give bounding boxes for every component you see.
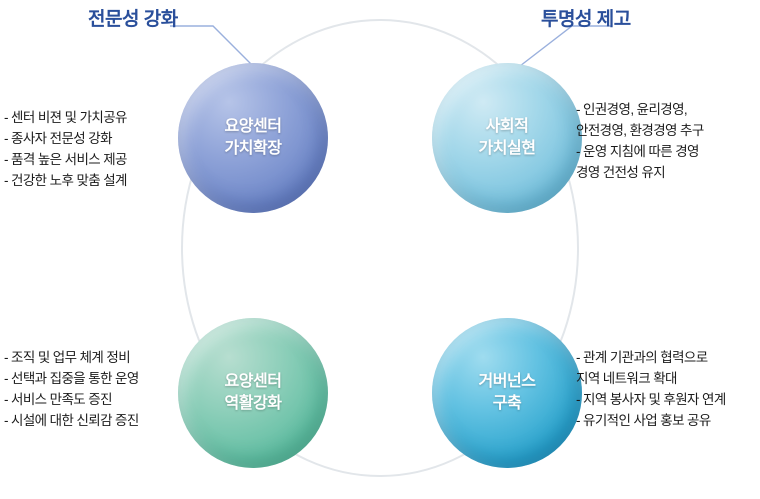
bullet-item-continuation: 안전경영, 환경경영 추구 xyxy=(576,121,704,142)
bullet-item: - 센터 비젼 및 가치공유 xyxy=(4,108,127,129)
node-top-left[interactable]: 요양센터 가치확장 xyxy=(178,63,328,213)
bullets-top-right: - 인권경영, 윤리경영, 안전경영, 환경경영 추구 - 운영 지침에 따른 … xyxy=(576,100,704,184)
bullet-item: - 품격 높은 서비스 제공 xyxy=(4,150,127,171)
node-top-left-label-line1: 요양센터 xyxy=(225,118,282,135)
bullet-item: - 운영 지침에 따른 경영 xyxy=(576,142,704,163)
leader-line-right xyxy=(520,26,612,66)
bullet-item: - 인권경영, 윤리경영, xyxy=(576,100,704,121)
node-bottom-right-label: 거버넌스 구축 xyxy=(479,371,536,414)
bullets-bottom-left: - 조직 및 업무 체계 정비 - 선택과 집중을 통한 운영 - 서비스 만족… xyxy=(4,348,139,432)
node-top-right-label-line2: 가치실현 xyxy=(479,140,536,157)
heading-left: 전문성 강화 xyxy=(88,4,178,31)
node-bottom-left-label-line1: 요양센터 xyxy=(225,373,282,390)
bullet-item: - 건강한 노후 맞춤 설계 xyxy=(4,171,127,192)
node-top-right[interactable]: 사회적 가치실현 xyxy=(432,63,582,213)
leader-line-left xyxy=(170,26,253,66)
bullet-item: - 관계 기관과의 협력으로 xyxy=(576,348,726,369)
bullet-item: - 시설에 대한 신뢰감 증진 xyxy=(4,411,139,432)
node-bottom-left-label-line2: 역활강화 xyxy=(225,395,282,412)
bullet-item-continuation: 경영 건전성 유지 xyxy=(576,163,704,184)
bullet-item-continuation: 지역 네트워크 확대 xyxy=(576,369,726,390)
node-bottom-left-label: 요양센터 역활강화 xyxy=(225,371,282,414)
bullet-item: - 종사자 전문성 강화 xyxy=(4,129,127,150)
node-top-right-label: 사회적 가치실현 xyxy=(479,116,536,159)
bullet-item: - 서비스 만족도 증진 xyxy=(4,390,139,411)
node-bottom-right-label-line2: 구축 xyxy=(493,395,521,412)
node-top-left-label-line2: 가치확장 xyxy=(225,140,282,157)
node-bottom-left[interactable]: 요양센터 역활강화 xyxy=(178,318,328,468)
node-top-left-label: 요양센터 가치확장 xyxy=(225,116,282,159)
bullets-bottom-right: - 관계 기관과의 협력으로 지역 네트워크 확대 - 지역 봉사자 및 후원자… xyxy=(576,348,726,432)
node-top-right-label-line1: 사회적 xyxy=(486,118,529,135)
node-bottom-right-label-line1: 거버넌스 xyxy=(479,373,536,390)
heading-right: 투명성 제고 xyxy=(541,4,631,31)
bullet-item: - 유기적인 사업 홍보 공유 xyxy=(576,411,726,432)
node-bottom-right[interactable]: 거버넌스 구축 xyxy=(432,318,582,468)
bullet-item: - 지역 봉사자 및 후원자 연계 xyxy=(576,390,726,411)
bullet-item: - 선택과 집중을 통한 운영 xyxy=(4,369,139,390)
bullet-item: - 조직 및 업무 체계 정비 xyxy=(4,348,139,369)
bullets-top-left: - 센터 비젼 및 가치공유 - 종사자 전문성 강화 - 품격 높은 서비스 … xyxy=(4,108,127,192)
diagram-canvas: 전문성 강화 투명성 제고 요양센터 가치확장 사회적 가치실현 요양센터 역활… xyxy=(0,0,760,499)
